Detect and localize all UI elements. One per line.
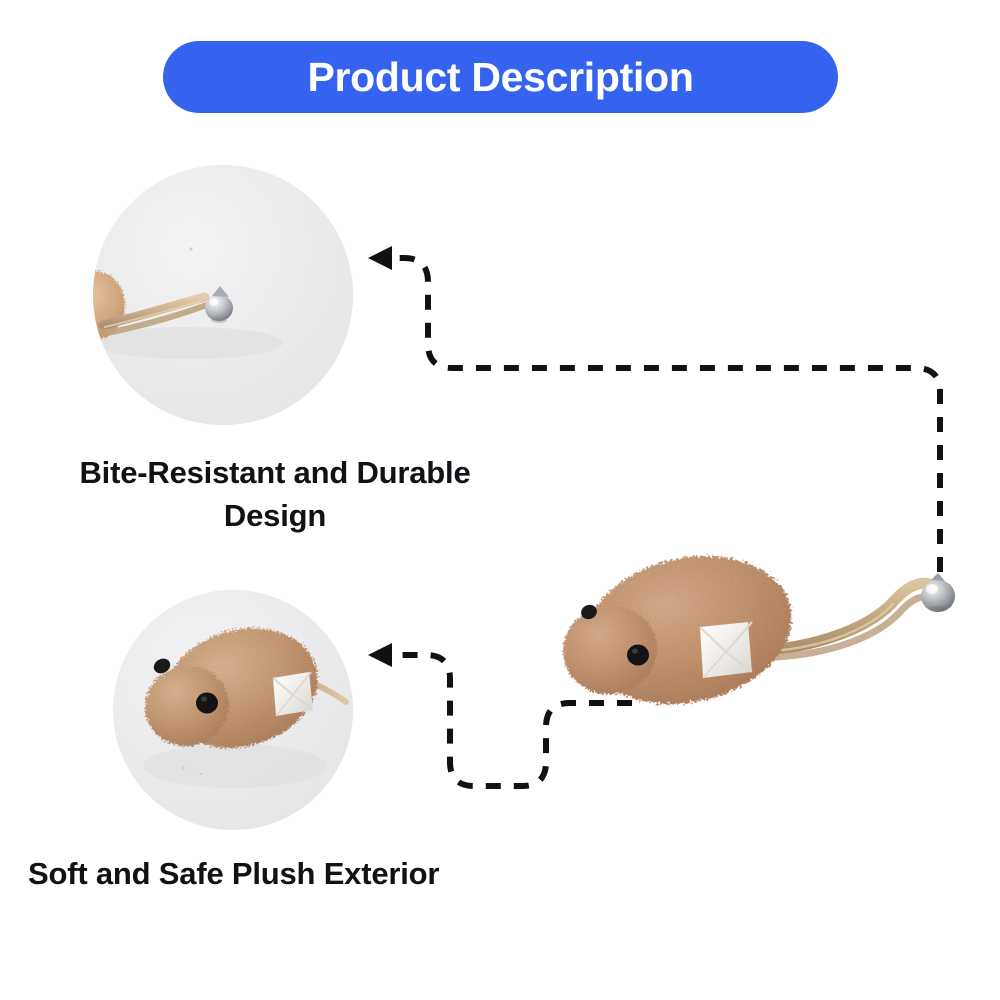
product-description-infographic: Product Description [0, 0, 1000, 1000]
feature-thumbnail-soft-plush[interactable] [113, 590, 353, 830]
feature-caption-soft-plush: Soft and Safe Plush Exterior [28, 853, 528, 896]
product-eye-front [627, 645, 649, 666]
thumbnail-1-photo [93, 165, 353, 425]
product-body [554, 536, 806, 724]
feature-thumbnail-bite-resistant[interactable] [93, 165, 353, 425]
feature-caption-bite-resistant: Bite-Resistant and Durable Design [35, 452, 515, 538]
product-ear [700, 622, 752, 678]
thumbnail-2-photo [113, 590, 353, 830]
product-rope-tail [770, 583, 936, 657]
